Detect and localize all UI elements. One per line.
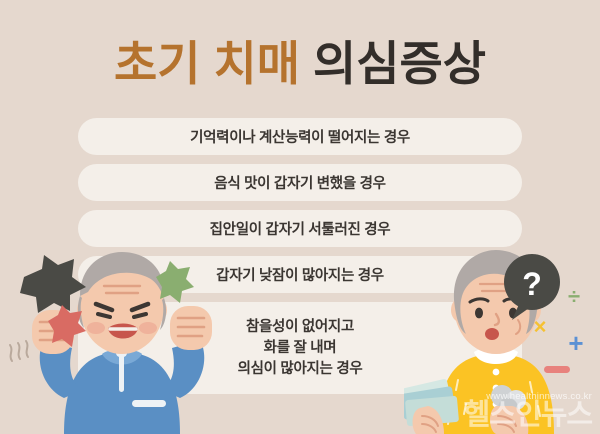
symptom-label-4: 갑자기 낮잠이 많아지는 경우 xyxy=(216,264,384,285)
left-eye xyxy=(475,308,483,319)
poster-canvas: 초기 치매의심증상 기억력이나 계산능력이 떨어지는 경우 음식 맛이 갑자기 … xyxy=(0,0,600,434)
divide-symbol-icon: ÷ xyxy=(568,284,580,309)
jacket-pocket-tab xyxy=(132,400,166,407)
symptom-label-2: 음식 맛이 갑자기 변했을 경우 xyxy=(214,172,385,193)
symptom-label-3: 집안일이 갑자기 서툴러진 경우 xyxy=(210,218,391,239)
symptom-pill-1: 기억력이나 계산능력이 떨어지는 경우 xyxy=(78,118,522,155)
burst-dark-icon xyxy=(20,255,86,313)
multiply-symbol-icon: × xyxy=(534,314,547,339)
minus-symbol-icon xyxy=(544,366,570,373)
burst-red-icon xyxy=(48,305,86,347)
symptom-pill-3: 집안일이 갑자기 서툴러진 경우 xyxy=(78,210,522,247)
title-accent-text: 초기 치매 xyxy=(114,37,300,90)
question-mark-icon: ? xyxy=(522,266,542,302)
question-speech-bubble: ? xyxy=(504,254,560,320)
symptom-label-1: 기억력이나 계산능력이 떨어지는 경우 xyxy=(190,126,410,147)
symptom-pill-2: 음식 맛이 갑자기 변했을 경우 xyxy=(78,164,522,201)
symptom-label-5-line-1: 참을성이 없어지고 xyxy=(246,317,354,338)
burst-green-icon xyxy=(156,261,194,303)
plus-symbol-icon: + xyxy=(568,328,583,358)
mouth-shape xyxy=(485,328,499,340)
anger-burst-group xyxy=(0,255,220,375)
motion-lines xyxy=(10,341,28,361)
symptom-label-5-line-2: 화를 잘 내며 xyxy=(264,338,337,359)
confusion-symbol-group: ? ÷ × + xyxy=(498,252,600,382)
page-title: 초기 치매의심증상 xyxy=(0,34,600,94)
symptom-label-5-line-3: 의심이 많아지는 경우 xyxy=(238,359,363,380)
title-dark-text: 의심증상 xyxy=(313,37,486,90)
